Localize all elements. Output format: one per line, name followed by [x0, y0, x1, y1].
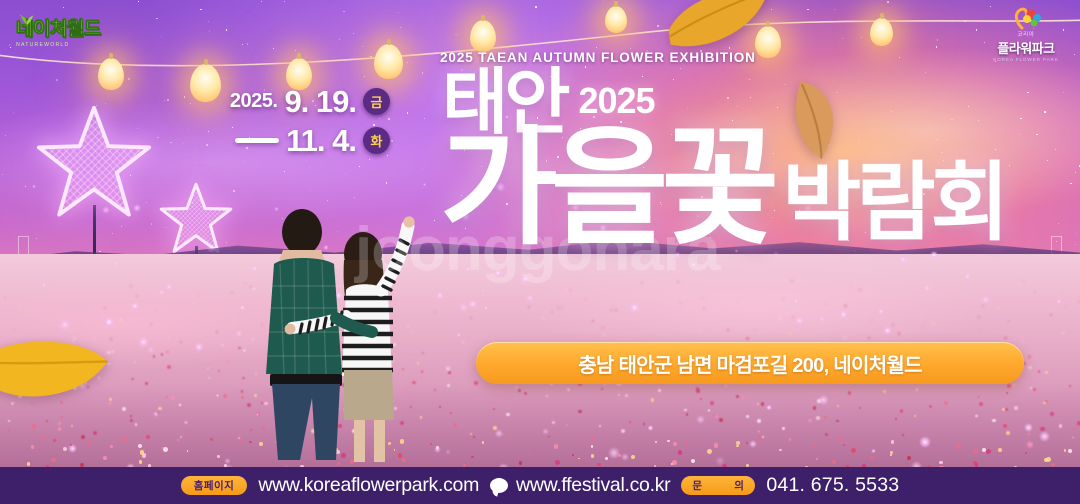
kfp-sub: 코리아	[982, 30, 1070, 38]
title-exhibition: 박람회	[772, 160, 1004, 246]
inquiry-phone[interactable]: 041. 675. 5533	[766, 474, 899, 497]
inquiry-label-1: 문	[692, 478, 702, 493]
footer-bar: 홈페이지 www.koreaflowerpark.com www.ffestiv…	[0, 467, 1080, 504]
address-text: 충남 태안군 남면 마검포길 200, 네이처월드	[578, 349, 922, 378]
start-year: 2025.	[230, 90, 278, 113]
string-light-bulb-icon	[470, 20, 496, 52]
event-dates: 2025. 9. 19. 금 11. 4. 화	[178, 86, 390, 156]
string-light-bulb-icon	[755, 26, 781, 58]
nature-world-logo-tagline: NATUREWORLD	[16, 42, 128, 48]
address-pill[interactable]: 충남 태안군 남면 마검포길 200, 네이처월드	[476, 342, 1024, 384]
homepage-url-2[interactable]: www.ffestival.co.kr	[516, 474, 670, 497]
homepage-url-1[interactable]: www.koreaflowerpark.com	[258, 474, 479, 497]
string-light-bulb-icon	[98, 58, 124, 90]
kfp-eng: KOREA FLOWER PARK	[982, 57, 1070, 62]
flower-hand-icon	[1004, 6, 1048, 30]
main-title: 태안 2025 가을꽃 박람회	[440, 70, 1050, 265]
sprout-icon	[18, 12, 36, 26]
korea-flower-park-logo[interactable]: 코리아 플라워파크 KOREA FLOWER PARK	[982, 6, 1070, 64]
title-autumn-flower: 가을꽃	[440, 125, 772, 253]
glowing-star-sign-icon	[158, 182, 234, 256]
string-light-bulb-icon	[870, 18, 893, 46]
glowing-star-sign-icon	[34, 104, 154, 222]
nature-world-logo[interactable]: 네이처월드 NATUREWORLD	[16, 14, 128, 58]
festival-poster: 네이처월드 NATUREWORLD 코리아 플라워파크 KOREA FLOWER…	[0, 0, 1080, 504]
title-line-2: 가을꽃 박람회	[440, 125, 1005, 253]
date-range-dash	[235, 138, 279, 143]
inquiry-label-2: 의	[734, 478, 744, 493]
kfp-main: 플라워파크	[982, 38, 1070, 57]
couple-photo	[250, 198, 430, 463]
end-weekday-badge: 화	[363, 127, 390, 154]
start-date-row: 2025. 9. 19. 금	[178, 86, 390, 117]
homepage-badge: 홈페이지	[181, 476, 248, 495]
end-day: 11. 4.	[286, 125, 356, 156]
end-date-row: 11. 4. 화	[178, 125, 390, 156]
start-weekday-badge: 금	[363, 88, 390, 115]
string-light-bulb-icon	[605, 6, 627, 33]
inquiry-badge: 문 의	[681, 476, 755, 495]
speech-bubble-icon	[490, 478, 508, 493]
start-day: 9. 19.	[284, 86, 356, 117]
string-light-bulb-icon	[374, 44, 403, 79]
